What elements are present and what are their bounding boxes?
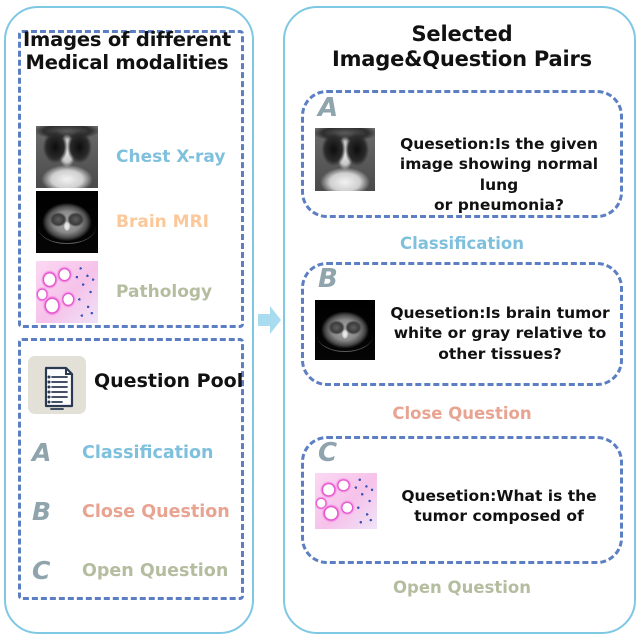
question-pool-letter-a: A <box>32 438 58 467</box>
pair-card-a-letter: A <box>318 93 338 123</box>
left-title-line2: Medical modalities <box>22 51 232 74</box>
question-pool-item-open-question[interactable]: C Open Question <box>32 556 228 585</box>
modality-label-brain-mri: Brain MRI <box>116 212 209 232</box>
pathology-thumbnail <box>36 261 98 323</box>
pair-card-c-question-line2: tumor composed of <box>385 506 613 526</box>
pair-card-c-caption: Open Question <box>301 578 623 597</box>
pair-card-b-caption: Close Question <box>301 404 623 423</box>
pair-card-b-question-line3: other tissues? <box>385 344 615 364</box>
checklist-document-icon <box>28 356 86 414</box>
pair-card-c-image <box>315 473 377 529</box>
pair-card-b-question: Quesetion:Is brain tumor white or gray r… <box>385 303 615 364</box>
question-pool-item-close-question[interactable]: B Close Question <box>32 497 230 526</box>
pair-card-b-question-line1: Quesetion:Is brain tumor <box>385 303 615 323</box>
pair-card-c-question: Quesetion:What is the tumor composed of <box>385 486 613 527</box>
pair-card-c-letter: C <box>318 438 337 468</box>
modality-label-pathology: Pathology <box>116 282 212 302</box>
question-pool-label-classification: Classification <box>82 443 213 463</box>
left-panel: Images of different Medical modalities C… <box>4 6 254 634</box>
pair-card-a-question-line2: image showing normal lung <box>385 154 613 195</box>
question-pool-letter-b: B <box>32 497 58 526</box>
brain-mri-thumbnail <box>36 191 98 253</box>
pair-card-a-image <box>315 128 375 191</box>
question-pool-item-classification[interactable]: A Classification <box>32 438 213 467</box>
pair-card-b-question-line2: white or gray relative to <box>385 323 615 343</box>
question-pool-label-open-question: Open Question <box>82 561 228 581</box>
pair-card-a-question-line1: Quesetion:Is the given <box>385 134 613 154</box>
pair-card-a-question: Quesetion:Is the given image showing nor… <box>385 134 613 216</box>
right-arrow-icon <box>258 305 282 335</box>
left-title-line1: Images of different <box>22 28 232 51</box>
pair-card-b-letter: B <box>318 264 338 294</box>
pair-card-a-caption: Classification <box>301 234 623 253</box>
question-pool-letter-c: C <box>32 556 58 585</box>
right-panel-title: Selected Image&Question Pairs <box>302 22 622 72</box>
question-pool-label-close-question: Close Question <box>82 502 230 522</box>
pair-card-b-image <box>315 300 375 360</box>
pair-card-a-question-line3: or pneumonia? <box>385 195 613 215</box>
pair-card-c-question-line1: Quesetion:What is the <box>385 486 613 506</box>
right-panel: Selected Image&Question Pairs A Quesetio… <box>283 6 636 634</box>
left-panel-title: Images of different Medical modalities <box>22 28 232 74</box>
modality-label-chest-xray: Chest X-ray <box>116 147 225 167</box>
modality-row-pathology: Pathology <box>36 261 212 323</box>
modality-row-brain-mri: Brain MRI <box>36 191 209 253</box>
right-title-line1: Selected <box>302 22 622 47</box>
figure-root: Images of different Medical modalities C… <box>0 0 640 640</box>
question-pool-title: Question Pool <box>94 370 243 392</box>
chest-xray-thumbnail <box>36 126 98 188</box>
modality-row-chest-xray: Chest X-ray <box>36 126 225 188</box>
right-title-line2: Image&Question Pairs <box>302 47 622 72</box>
